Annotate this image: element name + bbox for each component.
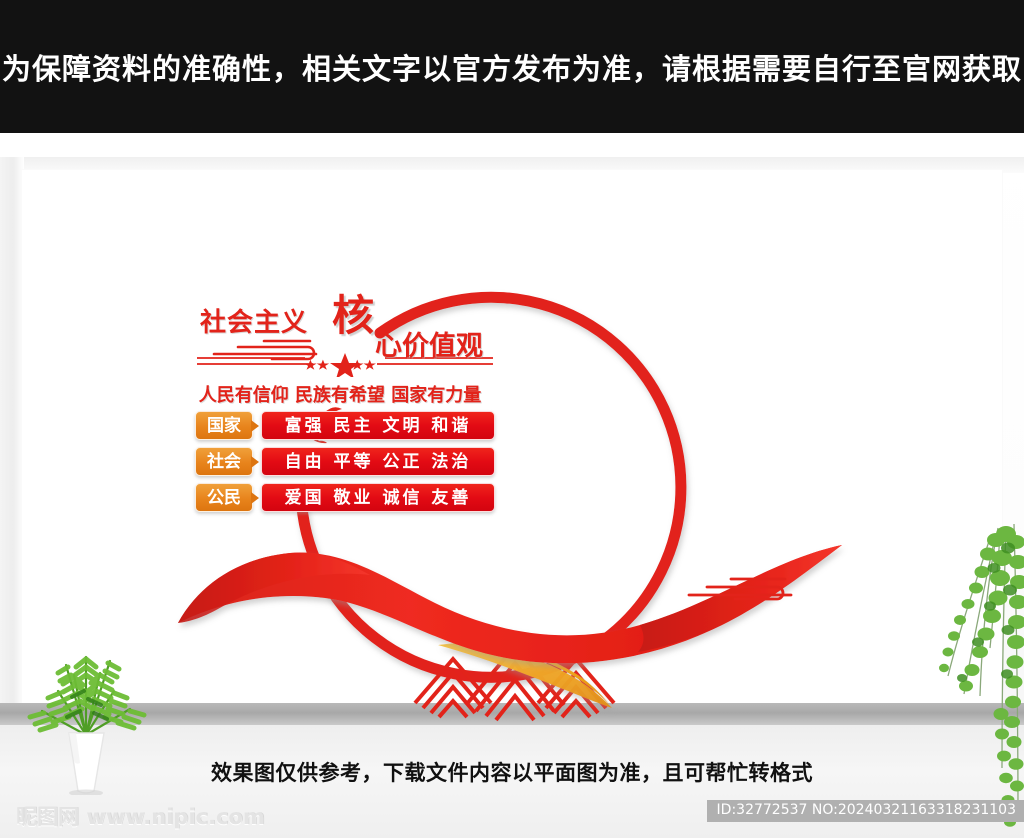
nipic-watermark: 昵图网 www.nipic.com xyxy=(16,801,265,831)
tag-arrow-icon xyxy=(251,420,259,432)
value-row-values: 爱国 敬业 诚信 友善 xyxy=(261,483,495,512)
value-row-tag: 社会 xyxy=(195,447,253,476)
screenshot-root: 为保障资料的准确性，相关文字以官方发布为准，请根据需要自行至官网获取 xyxy=(0,0,1024,838)
core-values-rows: 国家 富强 民主 文明 和谐 社会 自由 平等 公正 法治 公民 爱国 敬业 诚… xyxy=(195,411,495,519)
emblem-title: 社会主义 核 心价值观 xyxy=(200,288,500,368)
value-row-tag: 国家 xyxy=(195,411,253,440)
tag-arrow-icon xyxy=(251,456,259,468)
tag-arrow-icon xyxy=(251,492,259,504)
wall-scene: 社会主义 核 心价值观 人民有信仰 民族有希望 国家有力量 国家 富强 民主 文… xyxy=(0,133,1024,838)
value-row: 公民 爱国 敬业 诚信 友善 xyxy=(195,483,495,512)
emblem-slogan: 人民有信仰 民族有希望 国家有力量 xyxy=(175,381,505,407)
bottom-caption: 效果图仅供参考，下载文件内容以平面图为准，且可帮忙转格式 xyxy=(0,757,1024,787)
footer-bar: 昵图网 www.nipic.com ID:32772537 NO:2024032… xyxy=(0,798,1024,838)
value-row-tag: 公民 xyxy=(195,483,253,512)
value-row-values: 自由 平等 公正 法治 xyxy=(261,447,495,476)
value-row-values: 富强 民主 文明 和谐 xyxy=(261,411,495,440)
top-notice-text: 为保障资料的准确性，相关文字以官方发布为准，请根据需要自行至官网获取 xyxy=(2,46,1022,88)
top-notice-banner: 为保障资料的准确性，相关文字以官方发布为准，请根据需要自行至官网获取 xyxy=(0,0,1024,133)
value-row: 国家 富强 民主 文明 和谐 xyxy=(195,411,495,440)
red-ribbon-swoosh xyxy=(178,545,842,663)
value-row: 社会 自由 平等 公正 法治 xyxy=(195,447,495,476)
title-big-char: 核 xyxy=(332,282,374,343)
wall-edge-left xyxy=(0,157,24,757)
image-id-badge: ID:32772537 NO:20240321163318231103 xyxy=(707,800,1024,822)
title-suffix: 心价值观 xyxy=(375,324,483,363)
